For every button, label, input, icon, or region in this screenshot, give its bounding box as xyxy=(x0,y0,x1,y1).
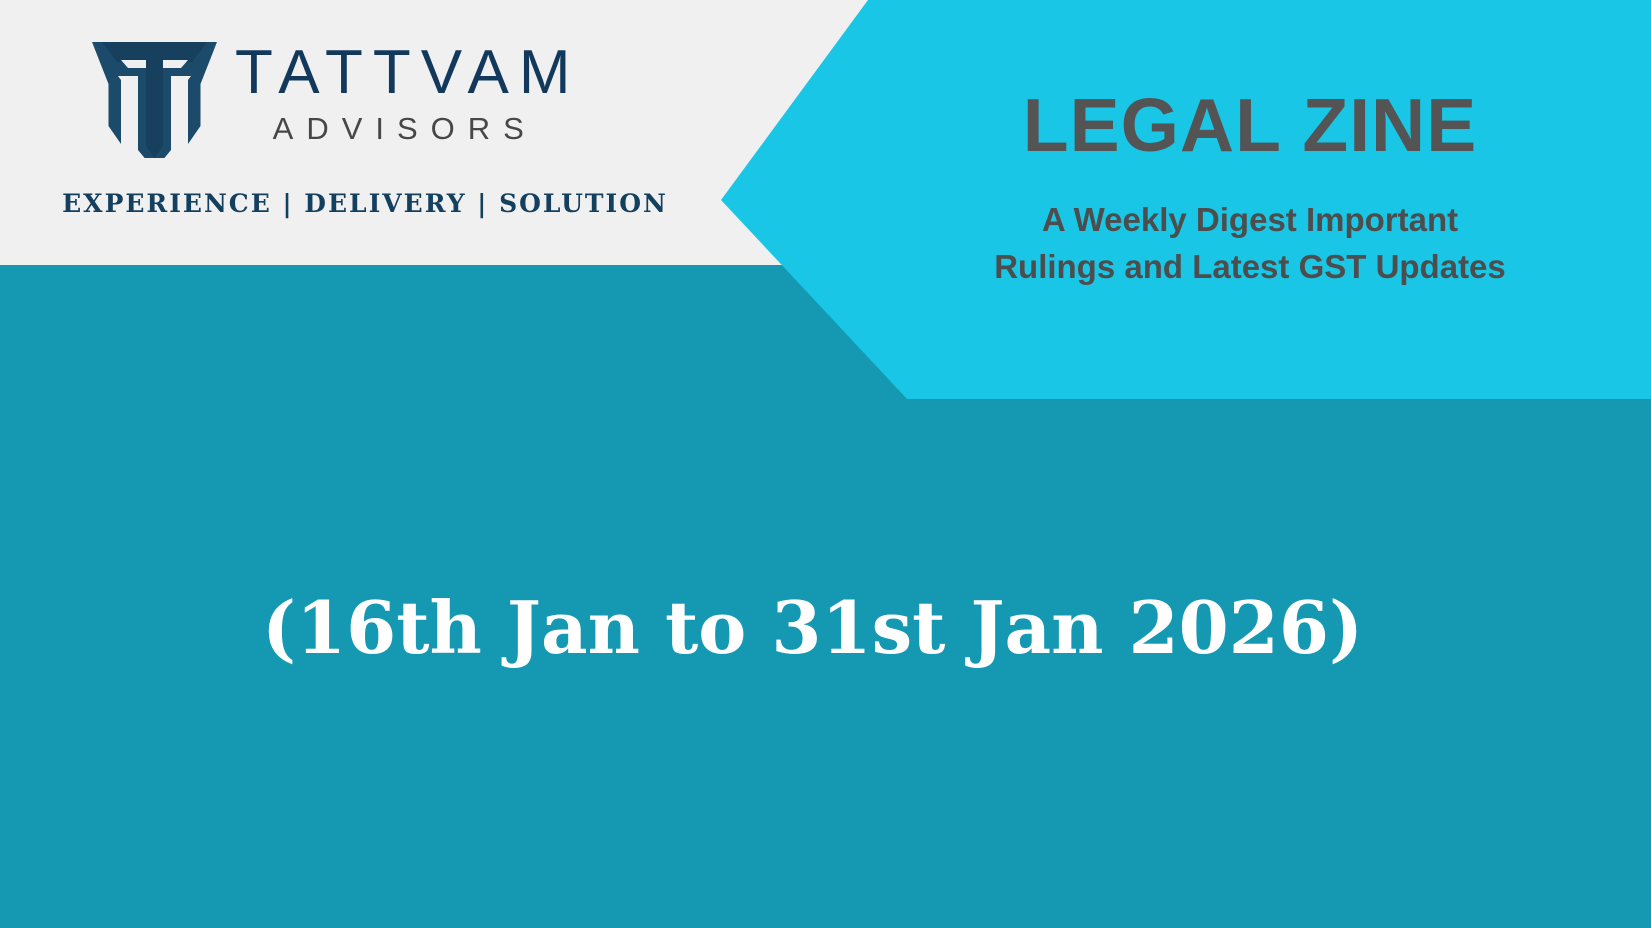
date-range-headline: (16th Jan to 31st Jan 2026) xyxy=(0,588,1625,667)
brand-wordmark: TATTVAM xyxy=(235,44,581,103)
zine-header-text: LEGAL ZINE A Weekly Digest Important Rul… xyxy=(930,0,1570,399)
legal-zine-cover-slide: TATTVAM ADVISORS EXPERIENCE | DELIVERY |… xyxy=(0,0,1651,928)
zine-subtitle: A Weekly Digest Important Rulings and La… xyxy=(930,196,1570,290)
brand-wordmark-block: TATTVAM ADVISORS xyxy=(235,38,581,147)
tattvam-t-shield-logo-icon xyxy=(88,38,221,158)
zine-subtitle-line-1: A Weekly Digest Important xyxy=(930,196,1570,243)
zine-title: LEGAL ZINE xyxy=(930,88,1570,163)
brand-logo-lockup: TATTVAM ADVISORS xyxy=(88,38,581,158)
brand-sub-wordmark: ADVISORS xyxy=(235,111,581,147)
brand-panel-content: TATTVAM ADVISORS EXPERIENCE | DELIVERY |… xyxy=(0,0,700,265)
zine-subtitle-line-2: Rulings and Latest GST Updates xyxy=(930,243,1570,290)
brand-tagline: EXPERIENCE | DELIVERY | SOLUTION xyxy=(60,186,670,222)
